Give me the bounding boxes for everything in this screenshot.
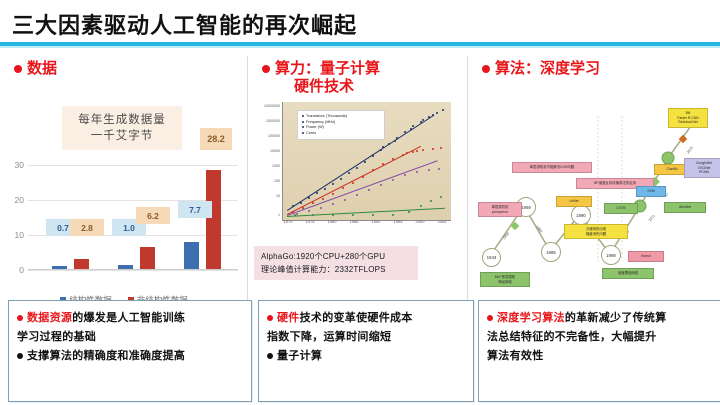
chart-title-line1: 每年生成数据量 <box>78 112 166 128</box>
chart-title-box: 每年生成数据量 一千艾字节 <box>62 106 182 150</box>
moore-x-tick-3: 1985 <box>350 219 359 224</box>
callout-data-highlight: 数据资源 <box>27 312 72 324</box>
bullet-dot-icon <box>267 353 273 359</box>
timeline-node-1990: 1990 <box>571 205 591 225</box>
annual-data-bar-chart: 每年生成数据量 一千艾字节 28.2 0 10 20 30 0. <box>4 102 244 317</box>
callout-algorithm-line3: 算法有效性 <box>487 347 717 366</box>
moore-x-tick-0: 1970 <box>284 219 293 224</box>
moore-y-tick-7: 1 <box>256 213 280 217</box>
slide: 三大因素驱动人工智能的再次崛起 数据 每年生成数据量 一千艾字节 28.2 0 <box>0 0 720 405</box>
column-data-heading: 数据 <box>14 60 57 78</box>
moore-legend-item-3: Cores <box>302 131 380 137</box>
timeline-node-1986: 1986 <box>541 242 561 262</box>
y-tick-10: 10 <box>6 230 24 240</box>
timeline-tag-dbn: 深度置信网络 <box>602 268 654 279</box>
timeline-tag-mlp: MLP多层感知 神经网络 <box>480 272 530 287</box>
moore-y-tick-3: 10000 <box>256 149 280 153</box>
callout-algorithm-bullet-1: 深度学习算法的革新减少了传统算 <box>487 309 717 328</box>
column-algorithm-title: 算法：深度学习 <box>495 60 600 77</box>
bar-2020-structured <box>184 242 199 269</box>
header-accent-rule-soft <box>0 46 720 48</box>
bullet-dot-icon <box>482 65 490 73</box>
moore-y-tick-1: 1000000 <box>256 119 280 123</box>
callout-data-rest: 的爆发是人工智能训练 <box>72 312 185 324</box>
callout-data-bullet-1: 数据资源的爆发是人工智能训练 <box>17 309 243 328</box>
callout-compute-bullet2-text: 量子计算 <box>277 350 322 362</box>
chart-plot-area: 0 10 20 30 0.7 2.8 1.0 6.2 <box>28 158 238 270</box>
bullet-dot-icon <box>262 65 270 73</box>
moore-y-tick-2: 100000 <box>256 134 280 138</box>
moore-x-tick-5: 1995 <box>394 219 403 224</box>
moores-law-chart: Transistors (Thousands) Frequency (MHz) … <box>256 98 456 243</box>
y-tick-0: 0 <box>6 265 24 275</box>
timeline-node-1998: 1998 <box>601 245 621 265</box>
moore-x-tick-1: 1975 <box>306 219 315 224</box>
timeline-tag-xor: 单层感知机不能解决XOR问题 <box>512 162 592 173</box>
timeline-tag-svm: SVM <box>636 186 666 197</box>
timeline-tag-kinect: Kinect <box>628 251 664 262</box>
alphago-caption-line1: AlphaGo:1920个CPU+280个GPU <box>261 250 418 263</box>
bullet-dot-icon <box>487 315 493 321</box>
callout-data: 数据资源的爆发是人工智能训练 学习过程的基础 支撑算法的精确度和准确度提高 <box>8 300 252 402</box>
y-tick-20: 20 <box>6 195 24 205</box>
callout-compute: 硬件技术的变革使硬件成本 指数下降，运算时间缩短 量子计算 <box>258 300 474 402</box>
moores-law-legend: Transistors (Thousands) Frequency (MHz) … <box>297 110 385 140</box>
moore-x-tick-4: 1990 <box>372 219 381 224</box>
bullet-dot-icon <box>14 65 22 73</box>
bar-2012-unstructured <box>74 259 89 269</box>
moore-x-tick-2: 1980 <box>328 219 337 224</box>
moore-y-tick-0: 10000000 <box>256 104 280 108</box>
deep-learning-timeline: 1943 1969 1986 1990 1998 1958 1980 1995 … <box>472 96 718 286</box>
y-tick-30: 30 <box>6 160 24 170</box>
column-compute-heading: 算力：量子计算 硬件技术 <box>262 60 380 96</box>
bullet-dot-icon <box>267 315 273 321</box>
timeline-tag-googlenet: GoogleNet VGGNet RCNN <box>684 158 720 178</box>
callout-algorithm-rest: 的革新减少了传统算 <box>565 312 667 324</box>
slide-header: 三大因素驱动人工智能的再次崛起 <box>0 0 720 46</box>
timeline-tag-lenet: LeNet <box>556 196 592 207</box>
moore-y-tick-4: 1000 <box>256 164 280 168</box>
moore-x-tick-7: 2005 <box>438 219 447 224</box>
moore-y-tick-6: 10 <box>256 194 280 198</box>
bar-group-2012: 0.7 2.8 <box>50 158 94 270</box>
timeline-tag-bn: BN Faster R-CNN Residual Net <box>668 108 708 128</box>
alphago-caption-box: AlphaGo:1920个CPU+280个GPU 理论峰值计算能力：2332TF… <box>254 246 418 280</box>
callout-algorithm-line2: 法总结特征的不完备性，大幅提升 <box>487 328 717 347</box>
chart-title-line2: 一千艾字节 <box>91 128 154 144</box>
timeline-tag-alexnet: AlexNet <box>664 202 706 213</box>
page-title: 三大因素驱动人工智能的再次崛起 <box>12 8 357 40</box>
peak-value-label: 28.2 <box>200 128 232 150</box>
timeline-tag-lstm: LSTM <box>604 203 638 214</box>
callout-algorithm: 深度学习算法的革新减少了传统算 法总结特征的不完备性，大幅提升 算法有效性 <box>478 300 720 402</box>
bar-2020-unstructured <box>206 170 221 269</box>
bar-2012-structured <box>52 266 67 269</box>
column-compute-title-line2: 硬件技术 <box>294 78 380 96</box>
bar-group-2020: 7.7 <box>182 158 226 270</box>
bar-2015-unstructured <box>140 247 155 269</box>
timeline-tag-www: 万维网的出现 梯度消失问题 <box>564 224 628 239</box>
alphago-caption-line2: 理论峰值计算能力：2332TFLOPS <box>261 263 418 276</box>
callout-compute-highlight: 硬件 <box>277 312 300 324</box>
moore-x-tick-6: 2000 <box>416 219 425 224</box>
callout-compute-bullet-1: 硬件技术的变革使硬件成本 <box>267 309 465 328</box>
callout-data-bullet-1-line2: 学习过程的基础 <box>17 328 243 347</box>
bar-group-2015: 1.0 6.2 <box>116 158 160 270</box>
callout-data-bullet2-text: 支撑算法的精确度和准确度提高 <box>27 350 185 362</box>
callout-compute-bullet-1-line2: 指数下降，运算时间缩短 <box>267 328 465 347</box>
label-2012-unstructured: 2.8 <box>70 219 104 236</box>
column-data-title: 数据 <box>27 60 57 77</box>
timeline-node-1943: 1943 <box>482 248 501 267</box>
moore-y-tick-5: 100 <box>256 179 280 183</box>
label-2015-unstructured: 6.2 <box>136 207 170 224</box>
timeline-tag-perceptron: 单层感知机 perceptron <box>478 202 522 217</box>
callout-algorithm-highlight: 深度学习算法 <box>497 312 565 324</box>
callout-data-bullet-2: 支撑算法的精确度和准确度提高 <box>17 347 243 366</box>
bullet-dot-icon <box>17 315 23 321</box>
column-algorithm-heading: 算法：深度学习 <box>482 60 600 78</box>
bullet-dot-icon <box>17 353 23 359</box>
bar-2015-structured <box>118 265 133 269</box>
callout-compute-bullet-2: 量子计算 <box>267 347 465 366</box>
callout-compute-rest: 技术的变革使硬件成本 <box>300 312 413 324</box>
label-2020-structured: 7.7 <box>178 201 212 218</box>
column-compute-title: 算力：量子计算 <box>275 60 380 77</box>
moores-law-plot-area: Transistors (Thousands) Frequency (MHz) … <box>282 102 451 221</box>
